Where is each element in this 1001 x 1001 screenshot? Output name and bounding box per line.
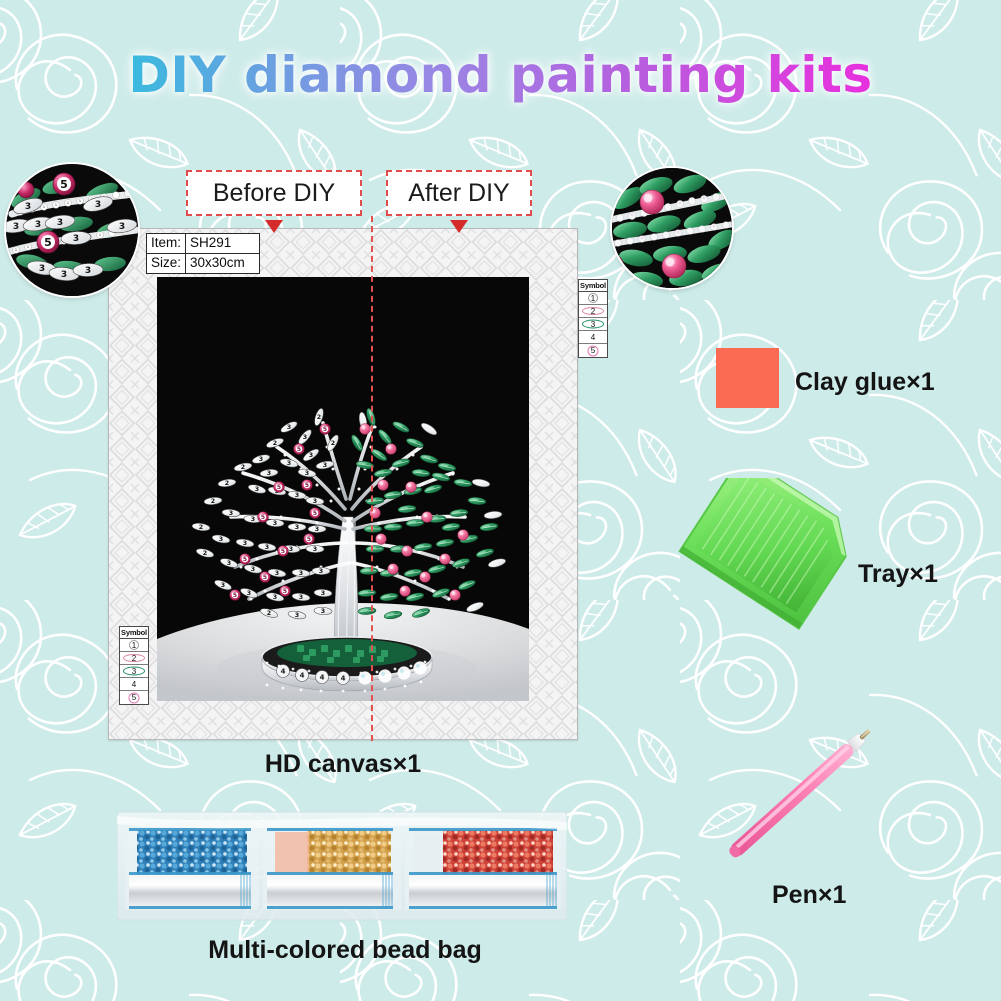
svg-text:3: 3 xyxy=(247,590,251,597)
svg-text:3: 3 xyxy=(287,460,291,467)
symbol-legend-top-right: Symbol 1 2 3 4 5 xyxy=(578,279,608,358)
symbol-number: 2 xyxy=(132,654,136,663)
svg-text:3: 3 xyxy=(305,470,309,477)
symbol-legend-row-3: 3 xyxy=(579,318,607,331)
pen-image xyxy=(655,695,925,910)
svg-text:3: 3 xyxy=(35,220,41,230)
svg-text:3: 3 xyxy=(295,612,299,619)
symbol-number: 2 xyxy=(591,307,595,316)
svg-text:5: 5 xyxy=(283,588,287,595)
svg-text:3: 3 xyxy=(227,560,231,567)
symbol-legend-row-5: 5 xyxy=(579,344,607,357)
svg-text:3: 3 xyxy=(265,544,269,551)
svg-text:3: 3 xyxy=(119,222,125,232)
magnifier-before-diy: 11 11 11 11 11 11 11 11 33 xyxy=(6,164,138,296)
svg-text:3: 3 xyxy=(309,452,313,459)
svg-text:5: 5 xyxy=(44,236,52,249)
size-value: 30x30cm xyxy=(186,253,260,273)
svg-text:3: 3 xyxy=(243,540,247,547)
svg-text:3: 3 xyxy=(219,536,223,543)
symbol-legend-bottom-left: Symbol 1 2 3 4 5 xyxy=(119,626,149,705)
svg-text:3: 3 xyxy=(313,498,317,505)
svg-text:3: 3 xyxy=(289,546,293,553)
table-row: Item: SH291 xyxy=(147,234,260,254)
svg-text:5: 5 xyxy=(281,548,285,555)
svg-text:3: 3 xyxy=(13,222,19,232)
svg-text:3: 3 xyxy=(25,202,31,212)
svg-text:1: 1 xyxy=(55,203,57,207)
svg-text:3: 3 xyxy=(273,594,277,601)
symbol-number: 5 xyxy=(591,346,595,355)
svg-text:1: 1 xyxy=(43,205,45,209)
svg-text:2: 2 xyxy=(331,440,335,447)
svg-text:2: 2 xyxy=(211,498,215,505)
bead-bag-label: Multi-colored bead bag xyxy=(0,936,690,965)
svg-text:2: 2 xyxy=(241,464,245,471)
svg-text:3: 3 xyxy=(303,434,307,441)
svg-text:5: 5 xyxy=(277,484,281,491)
svg-text:5: 5 xyxy=(233,592,237,599)
symbol-legend-row-2: 2 xyxy=(120,652,148,665)
symbol-number: 1 xyxy=(591,294,595,303)
svg-text:3: 3 xyxy=(229,510,233,517)
magnifier-after-diy xyxy=(612,168,732,288)
svg-text:3: 3 xyxy=(85,266,91,276)
size-label: Size: xyxy=(147,253,186,273)
svg-text:1: 1 xyxy=(67,201,69,205)
svg-text:5: 5 xyxy=(323,426,327,433)
svg-text:3: 3 xyxy=(61,270,67,280)
symbol-number: 3 xyxy=(132,667,136,676)
table-row: Size: 30x30cm xyxy=(147,253,260,273)
pen-label: Pen×1 xyxy=(772,881,846,910)
callout-before-diy: Before DIY xyxy=(186,170,362,216)
symbol-legend-row-1: 1 xyxy=(579,292,607,305)
symbol-number: 4 xyxy=(132,680,136,689)
symbol-number: 5 xyxy=(132,693,136,702)
svg-text:3: 3 xyxy=(259,456,263,463)
pointer-after-diy xyxy=(450,220,468,233)
tray-label: Tray×1 xyxy=(858,560,938,589)
svg-text:5: 5 xyxy=(263,574,267,581)
svg-text:3: 3 xyxy=(267,470,271,477)
hd-canvas-caption: HD canvas×1 xyxy=(108,750,578,779)
symbol-legend-row-4: 4 xyxy=(120,678,148,691)
svg-text:3: 3 xyxy=(273,520,277,527)
svg-text:3: 3 xyxy=(255,486,259,493)
svg-text:4: 4 xyxy=(341,675,346,683)
svg-text:3: 3 xyxy=(299,594,303,601)
svg-text:2: 2 xyxy=(317,414,321,421)
svg-text:5: 5 xyxy=(313,510,317,517)
svg-text:2: 2 xyxy=(199,524,203,531)
symbol-number: 1 xyxy=(132,641,136,650)
svg-text:3: 3 xyxy=(57,218,63,228)
callout-after-diy-text: After DIY xyxy=(408,179,509,208)
svg-text:2: 2 xyxy=(225,480,229,487)
svg-text:5: 5 xyxy=(297,446,301,453)
clay-glue-swatch xyxy=(716,348,779,408)
page-title: DIY diamond painting kits xyxy=(0,46,1001,104)
pointer-before-diy xyxy=(265,220,283,233)
symbol-legend-row-5: 5 xyxy=(120,691,148,704)
svg-text:4: 4 xyxy=(281,668,286,676)
svg-text:3: 3 xyxy=(319,568,323,575)
svg-text:3: 3 xyxy=(275,570,279,577)
before-after-divider xyxy=(371,216,373,741)
canvas-item-table: Item: SH291 Size: 30x30cm xyxy=(146,233,260,274)
svg-text:3: 3 xyxy=(315,526,319,533)
svg-text:4: 4 xyxy=(300,672,305,680)
svg-text:5: 5 xyxy=(305,482,309,489)
svg-text:4: 4 xyxy=(320,674,325,682)
jeweled-tree-photo: 23 32 33 33 22 23 33 32 33 33 32 33 33 3… xyxy=(157,277,529,701)
symbol-legend-header: Symbol xyxy=(120,627,148,639)
svg-text:3: 3 xyxy=(295,492,299,499)
symbol-legend-row-1: 1 xyxy=(120,639,148,652)
symbol-number: 4 xyxy=(591,333,595,342)
symbol-legend-row-4: 4 xyxy=(579,331,607,344)
svg-text:5: 5 xyxy=(307,536,311,543)
svg-text:5: 5 xyxy=(261,514,265,521)
svg-text:3: 3 xyxy=(251,516,255,523)
svg-text:2: 2 xyxy=(273,440,277,447)
svg-text:3: 3 xyxy=(73,234,79,244)
svg-text:3: 3 xyxy=(323,462,327,469)
symbol-legend-row-3: 3 xyxy=(120,665,148,678)
tray-image xyxy=(663,478,858,638)
svg-text:3: 3 xyxy=(313,546,317,553)
svg-text:2: 2 xyxy=(267,610,271,617)
svg-text:3: 3 xyxy=(95,200,101,210)
svg-text:3: 3 xyxy=(251,566,255,573)
item-label: Item: xyxy=(147,234,186,254)
callout-after-diy: After DIY xyxy=(386,170,532,216)
svg-text:1: 1 xyxy=(27,245,29,249)
svg-text:1: 1 xyxy=(15,248,17,252)
svg-text:3: 3 xyxy=(287,424,291,431)
clay-glue-label: Clay glue×1 xyxy=(795,368,935,397)
svg-text:3: 3 xyxy=(321,590,325,597)
bead-bag-image xyxy=(117,808,567,926)
symbol-legend-header: Symbol xyxy=(579,280,607,292)
svg-text:1: 1 xyxy=(79,199,81,203)
svg-text:5: 5 xyxy=(60,178,68,191)
svg-text:3: 3 xyxy=(221,582,225,589)
item-value: SH291 xyxy=(186,234,260,254)
symbol-legend-row-2: 2 xyxy=(579,305,607,318)
svg-text:2: 2 xyxy=(203,550,207,557)
svg-text:3: 3 xyxy=(295,524,299,531)
svg-text:3: 3 xyxy=(321,608,325,615)
svg-text:1: 1 xyxy=(99,233,101,237)
svg-text:3: 3 xyxy=(39,264,45,274)
svg-text:5: 5 xyxy=(243,556,247,563)
svg-text:3: 3 xyxy=(299,570,303,577)
symbol-number: 3 xyxy=(591,320,595,329)
callout-before-diy-text: Before DIY xyxy=(213,179,335,208)
